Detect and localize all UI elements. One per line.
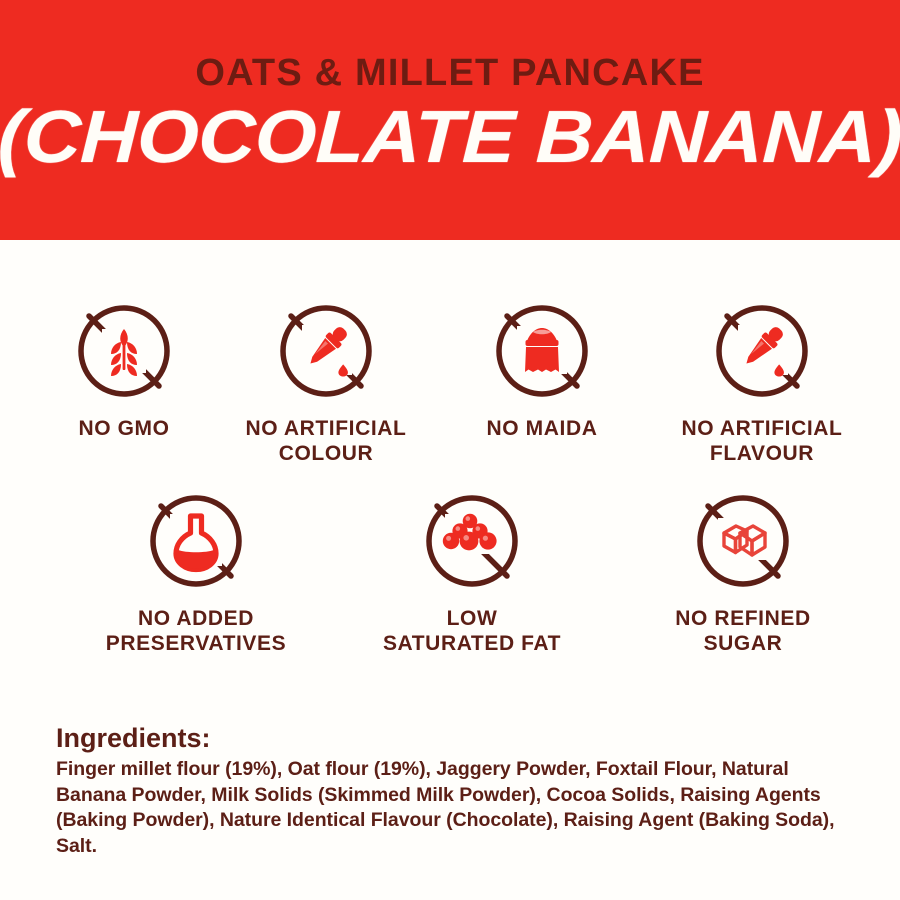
ingredients-heading: Ingredients:: [56, 722, 856, 754]
eyedropper-icon: [273, 298, 379, 404]
badge-label-no-gmo: NO GMO: [78, 416, 169, 441]
claims-badge-grid: NO GMO: [0, 240, 900, 710]
no-symbol-ring: [273, 298, 379, 404]
header-banner: OATS & MILLET PANCAKE (CHOCOLATE BANANA): [0, 0, 900, 240]
ingredients-section: Ingredients: Finger millet flour (19%), …: [56, 722, 856, 859]
product-subtitle: OATS & MILLET PANCAKE: [0, 52, 900, 94]
wheat-stalk-icon: [71, 298, 177, 404]
badge-label-no-refined-sugar: NO REFINED SUGAR: [675, 606, 811, 656]
badge-low-saturated-fat: LOW SATURATED FAT: [372, 488, 572, 656]
badge-no-added-preservatives: NO ADDED PRESERVATIVES: [98, 488, 294, 656]
flask-icon: [143, 488, 249, 594]
badge-label-no-added-preservatives: NO ADDED PRESERVATIVES: [106, 606, 287, 656]
eyedropper-icon: [709, 298, 815, 404]
badge-label-no-artificial-flavour: NO ARTIFICIAL FLAVOUR: [681, 416, 842, 466]
badge-no-artificial-colour: NO ARTIFICIAL COLOUR: [228, 298, 424, 466]
badge-label-low-saturated-fat: LOW SATURATED FAT: [383, 606, 561, 656]
flour-sack-icon: [489, 298, 595, 404]
badge-label-no-artificial-colour: NO ARTIFICIAL COLOUR: [245, 416, 406, 466]
ingredients-list-text: Finger millet flour (19%), Oat flour (19…: [56, 757, 846, 859]
badge-no-refined-sugar: NO REFINED SUGAR: [650, 488, 836, 656]
no-symbol-ring: [71, 298, 177, 404]
no-symbol-ring: [489, 298, 595, 404]
badge-no-gmo: NO GMO: [44, 298, 204, 441]
no-symbol-ring: [709, 298, 815, 404]
fat-globules-icon: [419, 488, 525, 594]
no-symbol-ring: [143, 488, 249, 594]
no-symbol-ring: [419, 488, 525, 594]
badge-label-no-maida: NO MAIDA: [487, 416, 598, 441]
no-symbol-ring: [690, 488, 796, 594]
badge-no-maida: NO MAIDA: [452, 298, 632, 441]
product-flavour-title: (CHOCOLATE BANANA): [0, 95, 900, 179]
sugar-cubes-icon: [690, 488, 796, 594]
badge-no-artificial-flavour: NO ARTIFICIAL FLAVOUR: [662, 298, 862, 466]
